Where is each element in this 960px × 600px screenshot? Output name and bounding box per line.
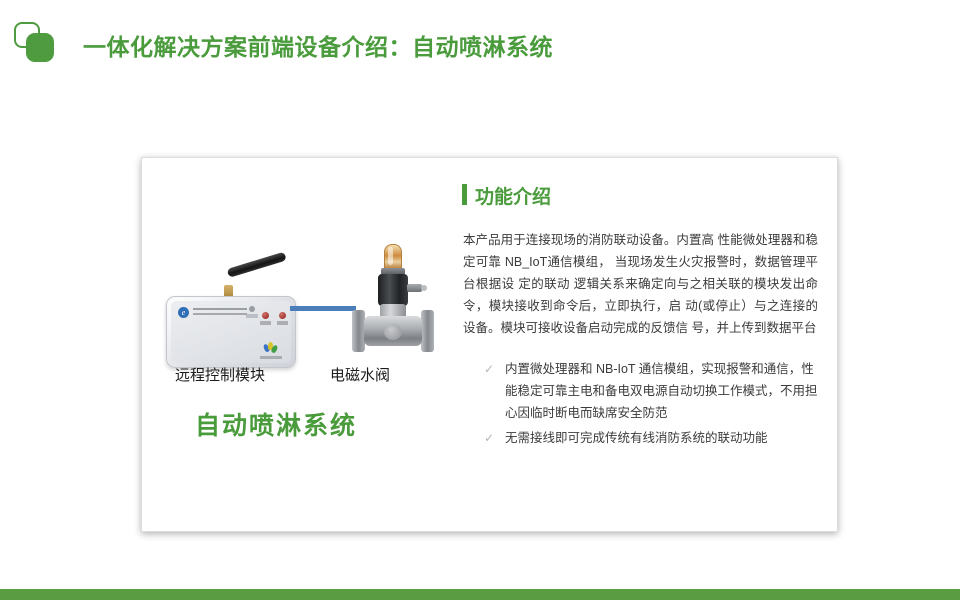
remote-control-module-photo: e [166, 268, 296, 348]
logo-square-filled [26, 33, 54, 62]
device-label-remote-control-module: 远程控制模块 [175, 364, 265, 385]
module-brand-text [193, 307, 247, 318]
list-item-label: 无需接线即可完成传统有线消防系统的联动功能 [505, 431, 768, 445]
section-heading-accent-bar [462, 184, 467, 205]
check-icon: ✓ [484, 427, 494, 449]
module-vendor-logo-icon [264, 342, 277, 354]
content-card: e [141, 157, 838, 532]
module-status-led-red-1 [262, 312, 269, 319]
antenna-icon [227, 252, 287, 278]
description-pane: 功能介绍 本产品用于连接现场的消防联动设备。内置高 性能微处理器和稳定可靠 NB… [462, 158, 839, 533]
blue-connection-line [290, 306, 356, 311]
module-led-red-1-label [260, 321, 271, 325]
module-vendor-logo-text [260, 356, 282, 359]
valve-indicator-cap [384, 244, 402, 270]
list-item: ✓ 内置微处理器和 NB-IoT 通信模组，实现报警和通信，性能稳定可靠主电和备… [484, 358, 824, 424]
device-label-row: 远程控制模块 电磁水阀 [142, 364, 462, 390]
description-paragraph: 本产品用于连接现场的消防联动设备。内置高 性能微处理器和稳定可靠 NB_IoT通… [463, 229, 818, 339]
list-item: ✓ 无需接线即可完成传统有线消防系统的联动功能 [484, 427, 824, 449]
feature-bullet-list: ✓ 内置微处理器和 NB-IoT 通信模组，实现报警和通信，性能稳定可靠主电和备… [484, 358, 824, 452]
device-stage: e [142, 238, 462, 378]
slide-header: 一体化解决方案前端设备介绍：自动喷淋系统 [0, 0, 960, 90]
valve-hub [384, 324, 402, 340]
module-status-led-red-2 [279, 312, 286, 319]
module-led-red-2-label [277, 321, 288, 325]
footer-accent-bar [0, 589, 960, 600]
solenoid-water-valve-photo [350, 244, 436, 354]
device-label-solenoid-water-valve: 电磁水阀 [330, 364, 390, 385]
page-title: 一体化解决方案前端设备介绍：自动喷淋系统 [83, 28, 553, 62]
valve-flange-right [421, 310, 434, 352]
module-status-led-gray [249, 306, 255, 312]
check-icon: ✓ [484, 358, 494, 380]
module-brand-e-icon: e [178, 307, 189, 318]
valve-conduit-tip [421, 285, 427, 291]
overlapping-squares-logo-icon [14, 22, 62, 66]
valve-cap-highlight [388, 247, 393, 265]
product-title: 自动喷淋系统 [195, 406, 357, 442]
valve-conduit [407, 284, 422, 292]
device-illustration-pane: e [142, 158, 462, 533]
list-item-label: 内置微处理器和 NB-IoT 通信模组，实现报警和通信，性能稳定可靠主电和备电双… [505, 362, 818, 420]
valve-solenoid-coil [378, 274, 408, 306]
module-led-gray-label [246, 314, 258, 318]
section-heading-label: 功能介绍 [475, 182, 551, 209]
